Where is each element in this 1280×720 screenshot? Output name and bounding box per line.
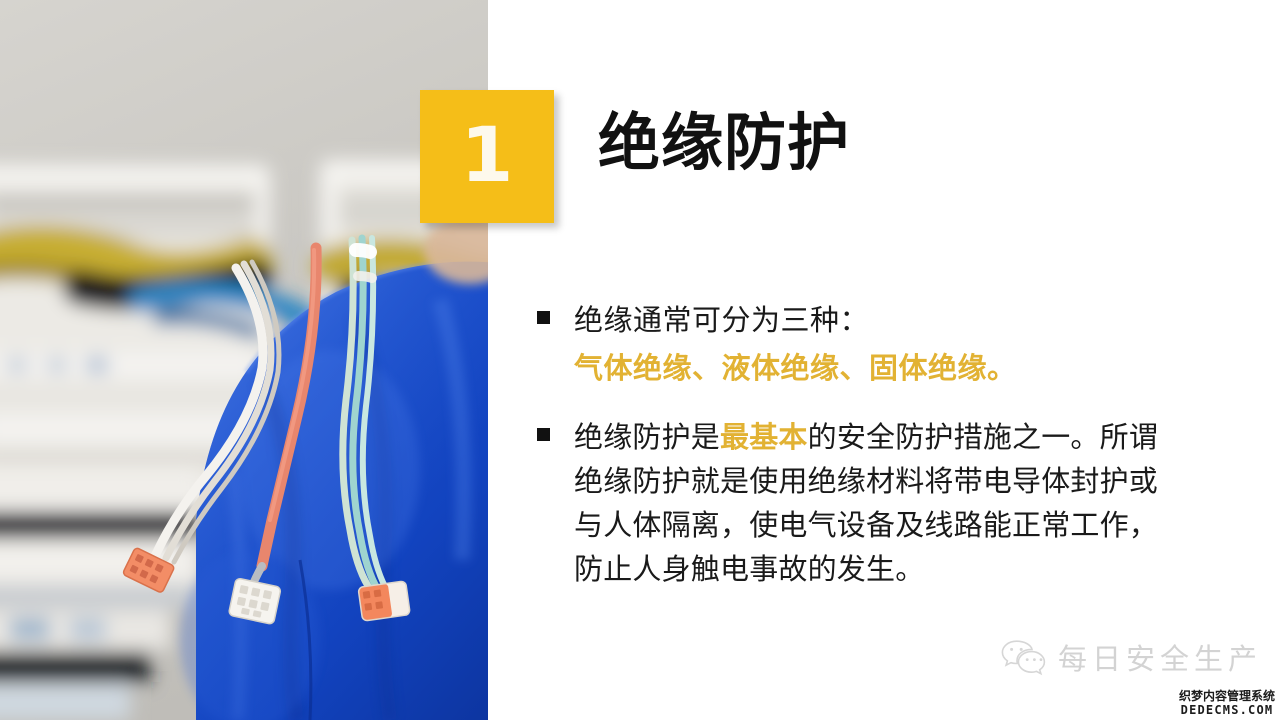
bullet-2-line-3: 与人体隔离，使电气设备及线路能正常工作， — [574, 503, 1187, 547]
wechat-icon-glyph — [1000, 638, 1046, 676]
wechat-icon — [1000, 638, 1046, 676]
list-item: 绝缘通常可分为三种： 气体绝缘、液体绝缘、固体绝缘。 — [537, 298, 1187, 390]
bullet-1-line-2: 气体绝缘、液体绝缘、固体绝缘。 — [574, 346, 1187, 390]
section-number-badge: 1 — [420, 90, 554, 223]
bullet-2-seg-a: 绝缘防护是 — [574, 420, 720, 454]
dedecms-cn-label: 织梦内容管理系统 — [1179, 690, 1275, 702]
page-title: 绝缘防护 — [598, 107, 850, 178]
bullet-2-line-2: 绝缘防护就是使用绝缘材料将带电导体封护或 — [574, 459, 1187, 503]
slide-photo — [0, 0, 488, 720]
slide-root: 1 绝缘防护 绝缘通常可分为三种： 气体绝缘、液体绝缘、固体绝缘。 绝缘防护是最… — [0, 0, 1280, 720]
bullet-text-2: 绝缘防护是最基本的安全防护措施之一。所谓 绝缘防护就是使用绝缘材料将带电导体封护… — [574, 415, 1187, 591]
bullet-2-line-1: 绝缘防护是最基本的安全防护措施之一。所谓 — [574, 415, 1187, 459]
body-content: 绝缘通常可分为三种： 气体绝缘、液体绝缘、固体绝缘。 绝缘防护是最基本的安全防护… — [537, 298, 1187, 591]
wechat-watermark: 每日安全生产 — [1000, 636, 1262, 678]
section-number: 1 — [420, 90, 554, 223]
bullet-text-1: 绝缘通常可分为三种： 气体绝缘、液体绝缘、固体绝缘。 — [574, 298, 1187, 390]
photo-illustration — [0, 0, 488, 720]
bullet-2-highlight: 最基本 — [720, 420, 808, 454]
dedecms-watermark: 织梦内容管理系统 DEDECMS.COM — [1179, 690, 1275, 716]
list-item: 绝缘防护是最基本的安全防护措施之一。所谓 绝缘防护就是使用绝缘材料将带电导体封护… — [537, 415, 1187, 591]
bullet-square-icon — [537, 311, 550, 324]
dedecms-domain: DEDECMS.COM — [1179, 704, 1275, 716]
bullet-2-seg-b: 的安全防护措施之一。所谓 — [808, 420, 1158, 454]
bullet-2-line-4: 防止人身触电事故的发生。 — [574, 547, 1187, 591]
bullet-square-icon — [537, 428, 550, 441]
wechat-account-name: 每日安全生产 — [1058, 636, 1262, 678]
bullet-1-line-1: 绝缘通常可分为三种： — [574, 298, 1187, 342]
